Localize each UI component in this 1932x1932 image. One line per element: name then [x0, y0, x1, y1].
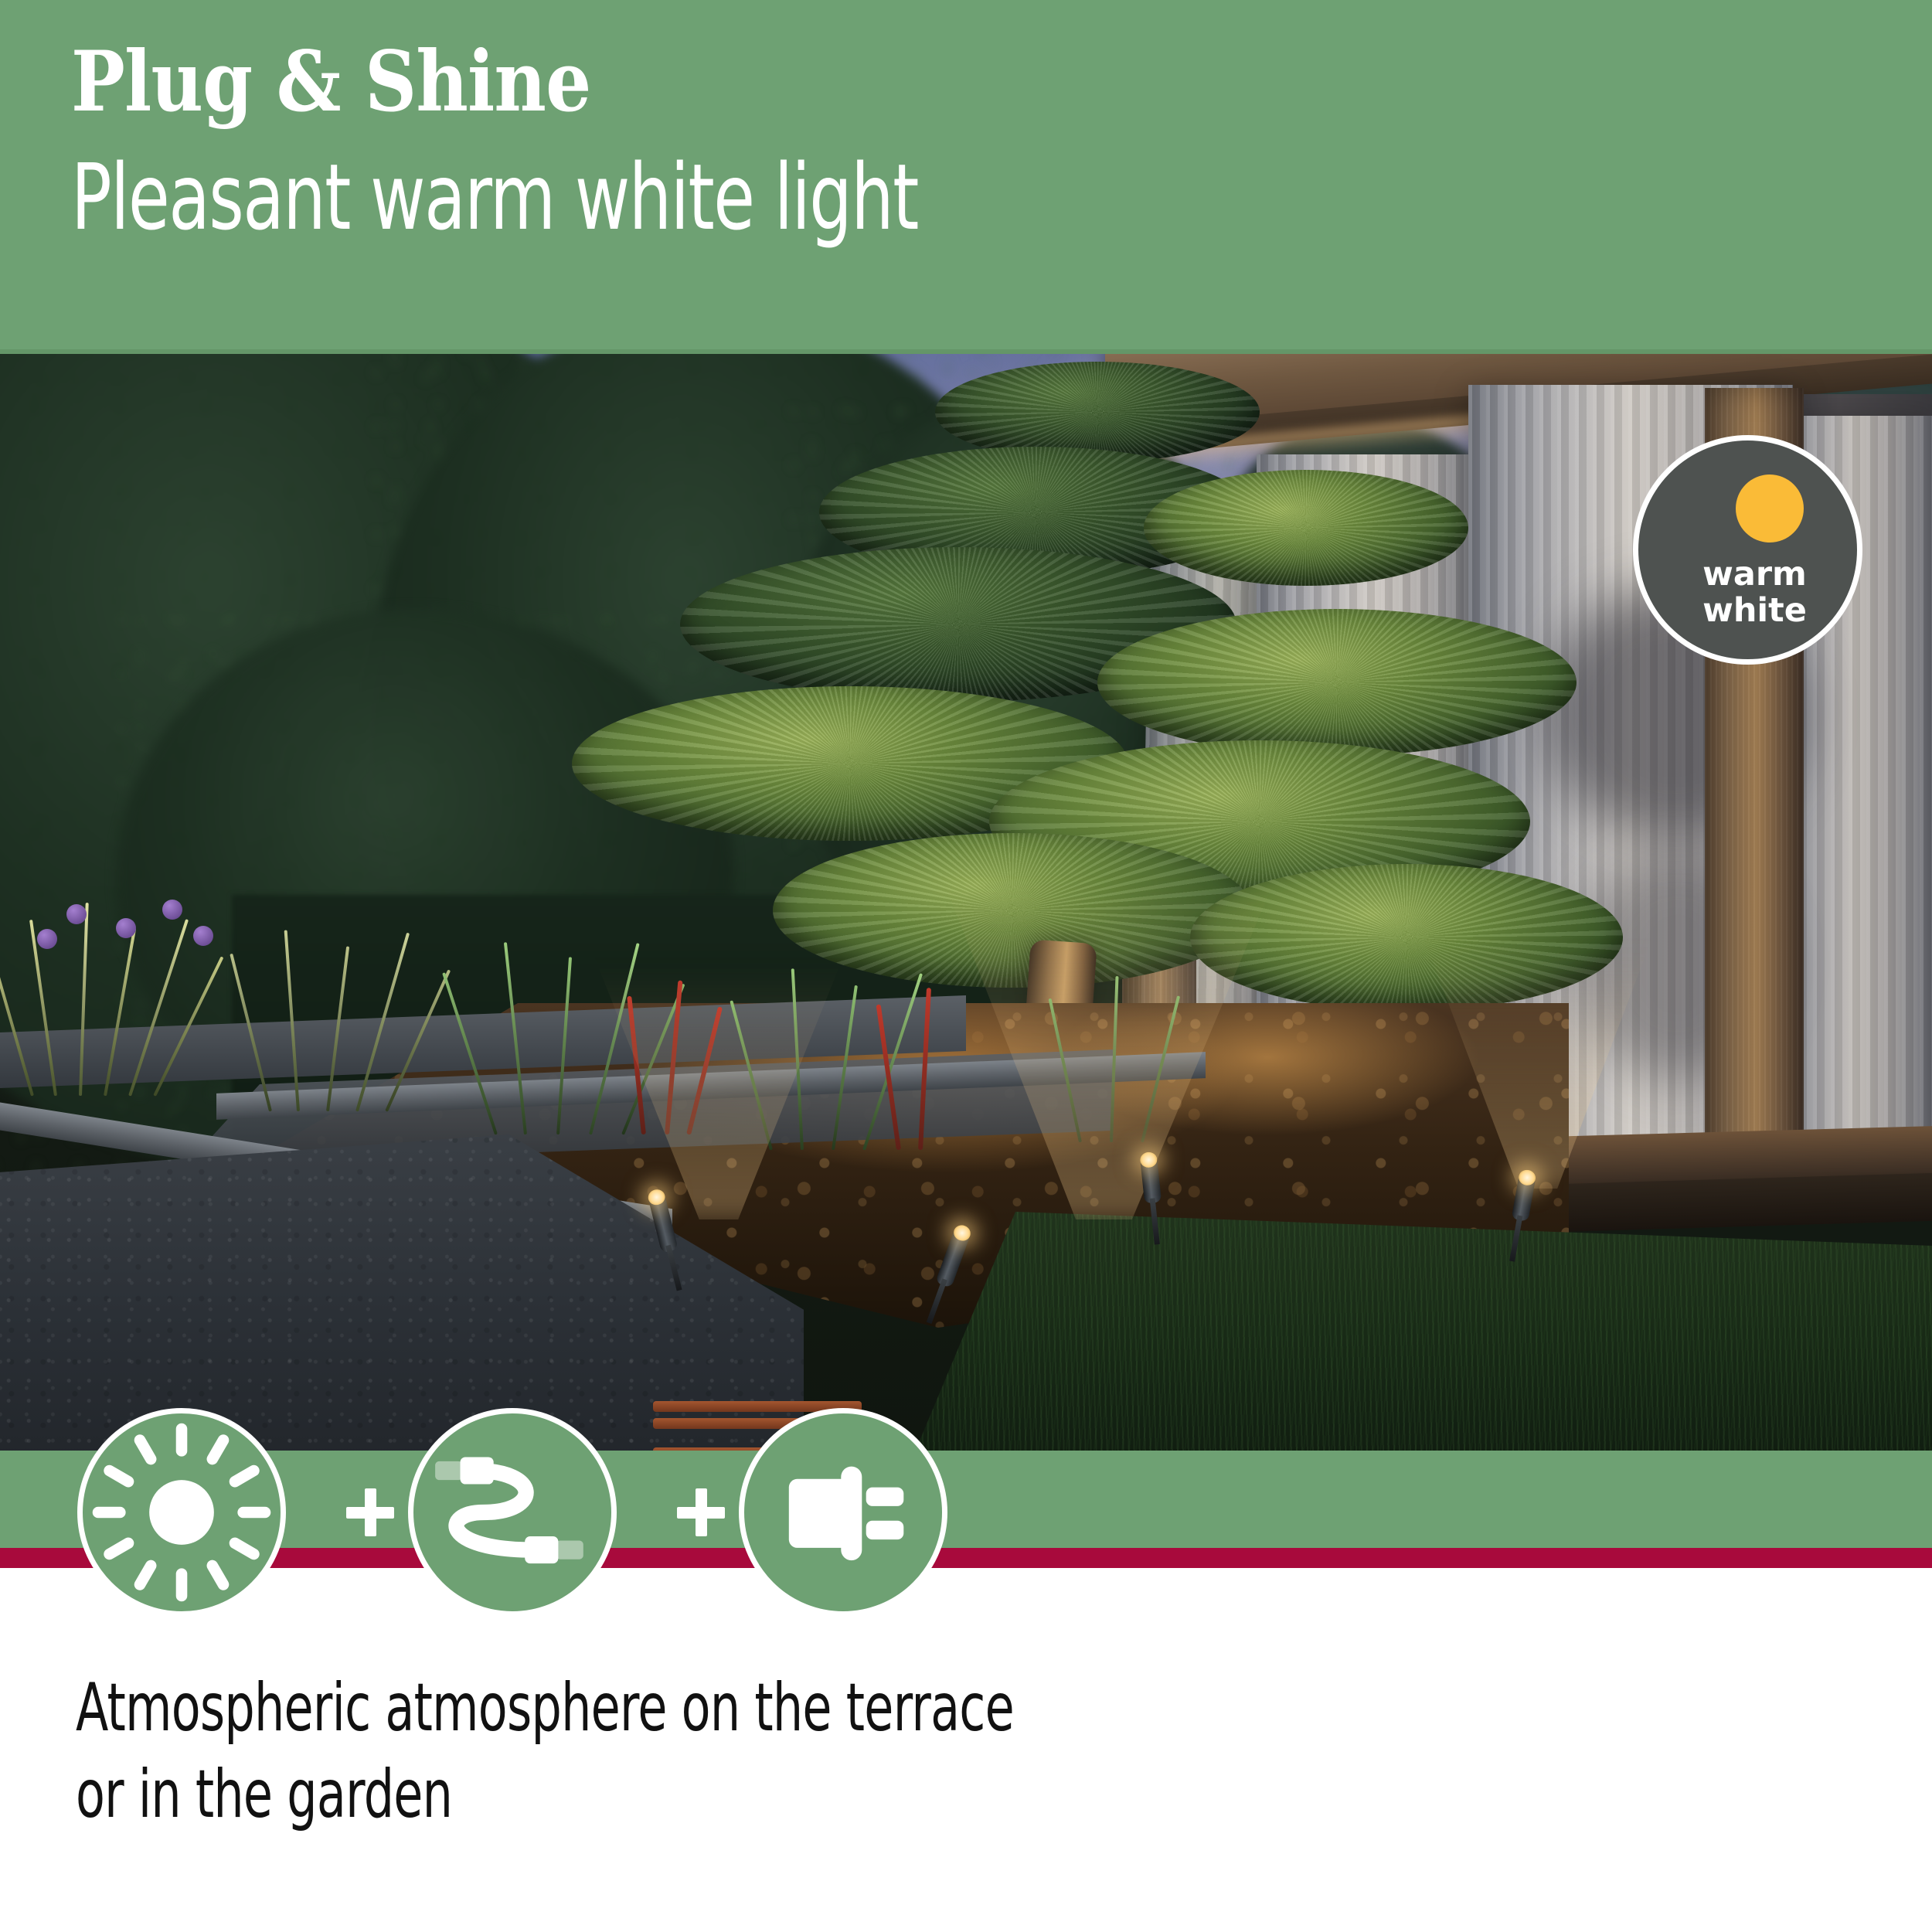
pine-foliage-pad [1144, 470, 1468, 586]
ornamental-grass-clump [15, 895, 294, 1096]
warm-white-dot-icon [1736, 474, 1804, 543]
pine-foliage-pad [935, 362, 1260, 462]
warm-white-line1: warm [1652, 556, 1857, 593]
pine-foliage-pad [1097, 609, 1577, 756]
plus-separator-1 [346, 1488, 394, 1536]
poster-root: Plug & Shine Pleasant warm white light [0, 0, 1932, 1932]
ornamental-grass-clump [255, 926, 502, 1111]
warm-white-line2: white [1652, 593, 1857, 629]
caption-text: Atmospheric atmosphere on the terrace or… [76, 1665, 1014, 1838]
lawn [912, 1212, 1932, 1451]
header-band: Plug & Shine Pleasant warm white light [0, 0, 1932, 354]
plus-separator-2 [677, 1488, 725, 1536]
sun-icon [77, 1408, 286, 1617]
page-title: Plug & Shine [71, 40, 590, 124]
bottom-red-rule [0, 1548, 1932, 1568]
page-subtitle: Pleasant warm white light [71, 151, 918, 243]
plug-icon [739, 1408, 947, 1617]
bottom-green-band [0, 1451, 1932, 1548]
warm-white-badge: warm white [1633, 435, 1862, 665]
warm-white-label: warm white [1638, 556, 1857, 630]
cable-icon [408, 1408, 617, 1617]
